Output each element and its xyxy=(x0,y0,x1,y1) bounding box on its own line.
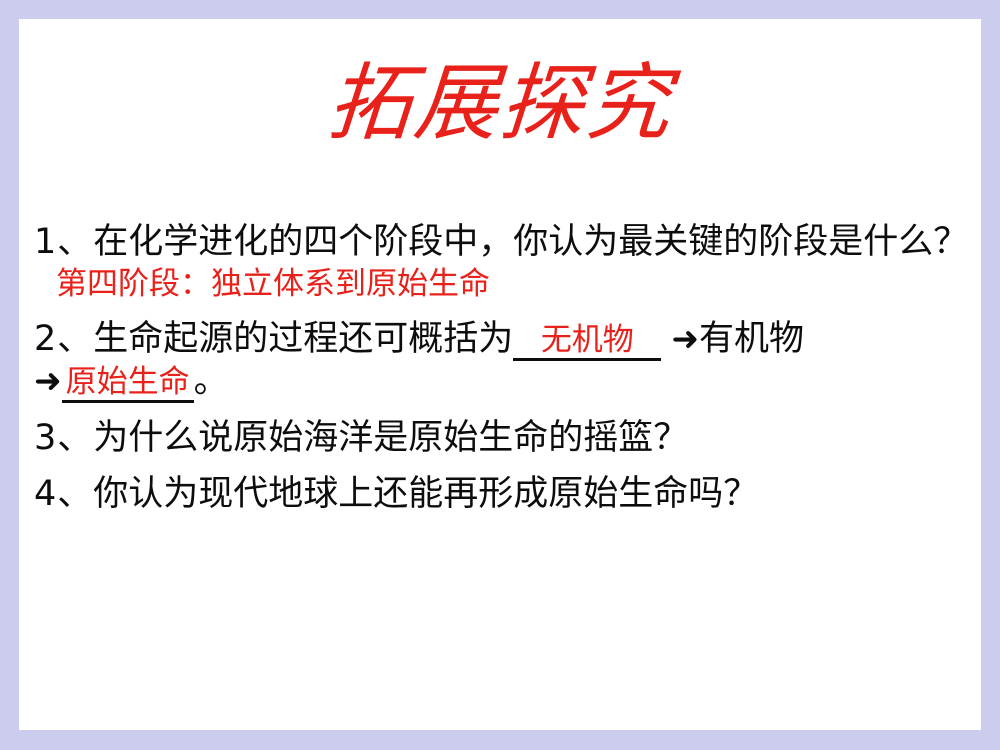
arrow-right-icon-1: ➜ xyxy=(671,319,699,358)
question-1-answer: 第四阶段：独立体系到原始生命 xyxy=(56,266,490,302)
question-3-prompt: 为什么说原始海洋是原始生命的摇篮？ xyxy=(93,418,688,458)
question-2-blank-1: 无机物 xyxy=(513,325,661,361)
question-list: 1、在化学进化的四个阶段中，你认为最关键的阶段是什么？ 第四阶段：独立体系到原始… xyxy=(34,222,974,515)
question-item-1: 1、在化学进化的四个阶段中，你认为最关键的阶段是什么？ xyxy=(34,222,974,263)
question-1-answer-row: 第四阶段：独立体系到原始生命 xyxy=(34,263,974,304)
gap-3 xyxy=(34,459,974,474)
gap-1 xyxy=(34,304,974,319)
gap-2 xyxy=(34,403,974,418)
question-2-prompt: 生命起源的过程还可概括为 xyxy=(93,319,513,359)
question-3-number: 3 xyxy=(34,418,57,458)
slide-canvas: 拓展探究 1、在化学进化的四个阶段中，你认为最关键的阶段是什么？ 第四阶段：独立… xyxy=(19,19,981,730)
question-4-separator: 、 xyxy=(57,474,93,514)
question-2-separator: 、 xyxy=(57,319,93,359)
question-1-number: 1 xyxy=(34,222,57,262)
question-2-number: 2 xyxy=(34,319,57,359)
question-3-separator: 、 xyxy=(57,418,93,458)
question-2-mid-text: 有机物 xyxy=(699,319,804,359)
question-2-period: 。 xyxy=(194,361,229,401)
question-1-prompt: 在化学进化的四个阶段中，你认为最关键的阶段是什么？ xyxy=(93,222,968,262)
question-2-continuation: ➜原始生命。 xyxy=(34,361,974,403)
question-item-4: 4、你认为现代地球上还能再形成原始生命吗？ xyxy=(34,474,974,515)
question-item-2: 2、生命起源的过程还可概括为无机物➜有机物 xyxy=(34,319,974,361)
question-2-blank-2: 原始生命 xyxy=(62,367,194,403)
question-1-separator: 、 xyxy=(57,222,93,262)
question-4-number: 4 xyxy=(34,474,57,514)
arrow-right-icon-2: ➜ xyxy=(34,361,62,400)
question-4-prompt: 你认为现代地球上还能再形成原始生命吗？ xyxy=(93,474,758,514)
slide-title: 拓展探究 xyxy=(19,61,981,145)
question-item-3: 3、为什么说原始海洋是原始生命的摇篮？ xyxy=(34,418,974,459)
